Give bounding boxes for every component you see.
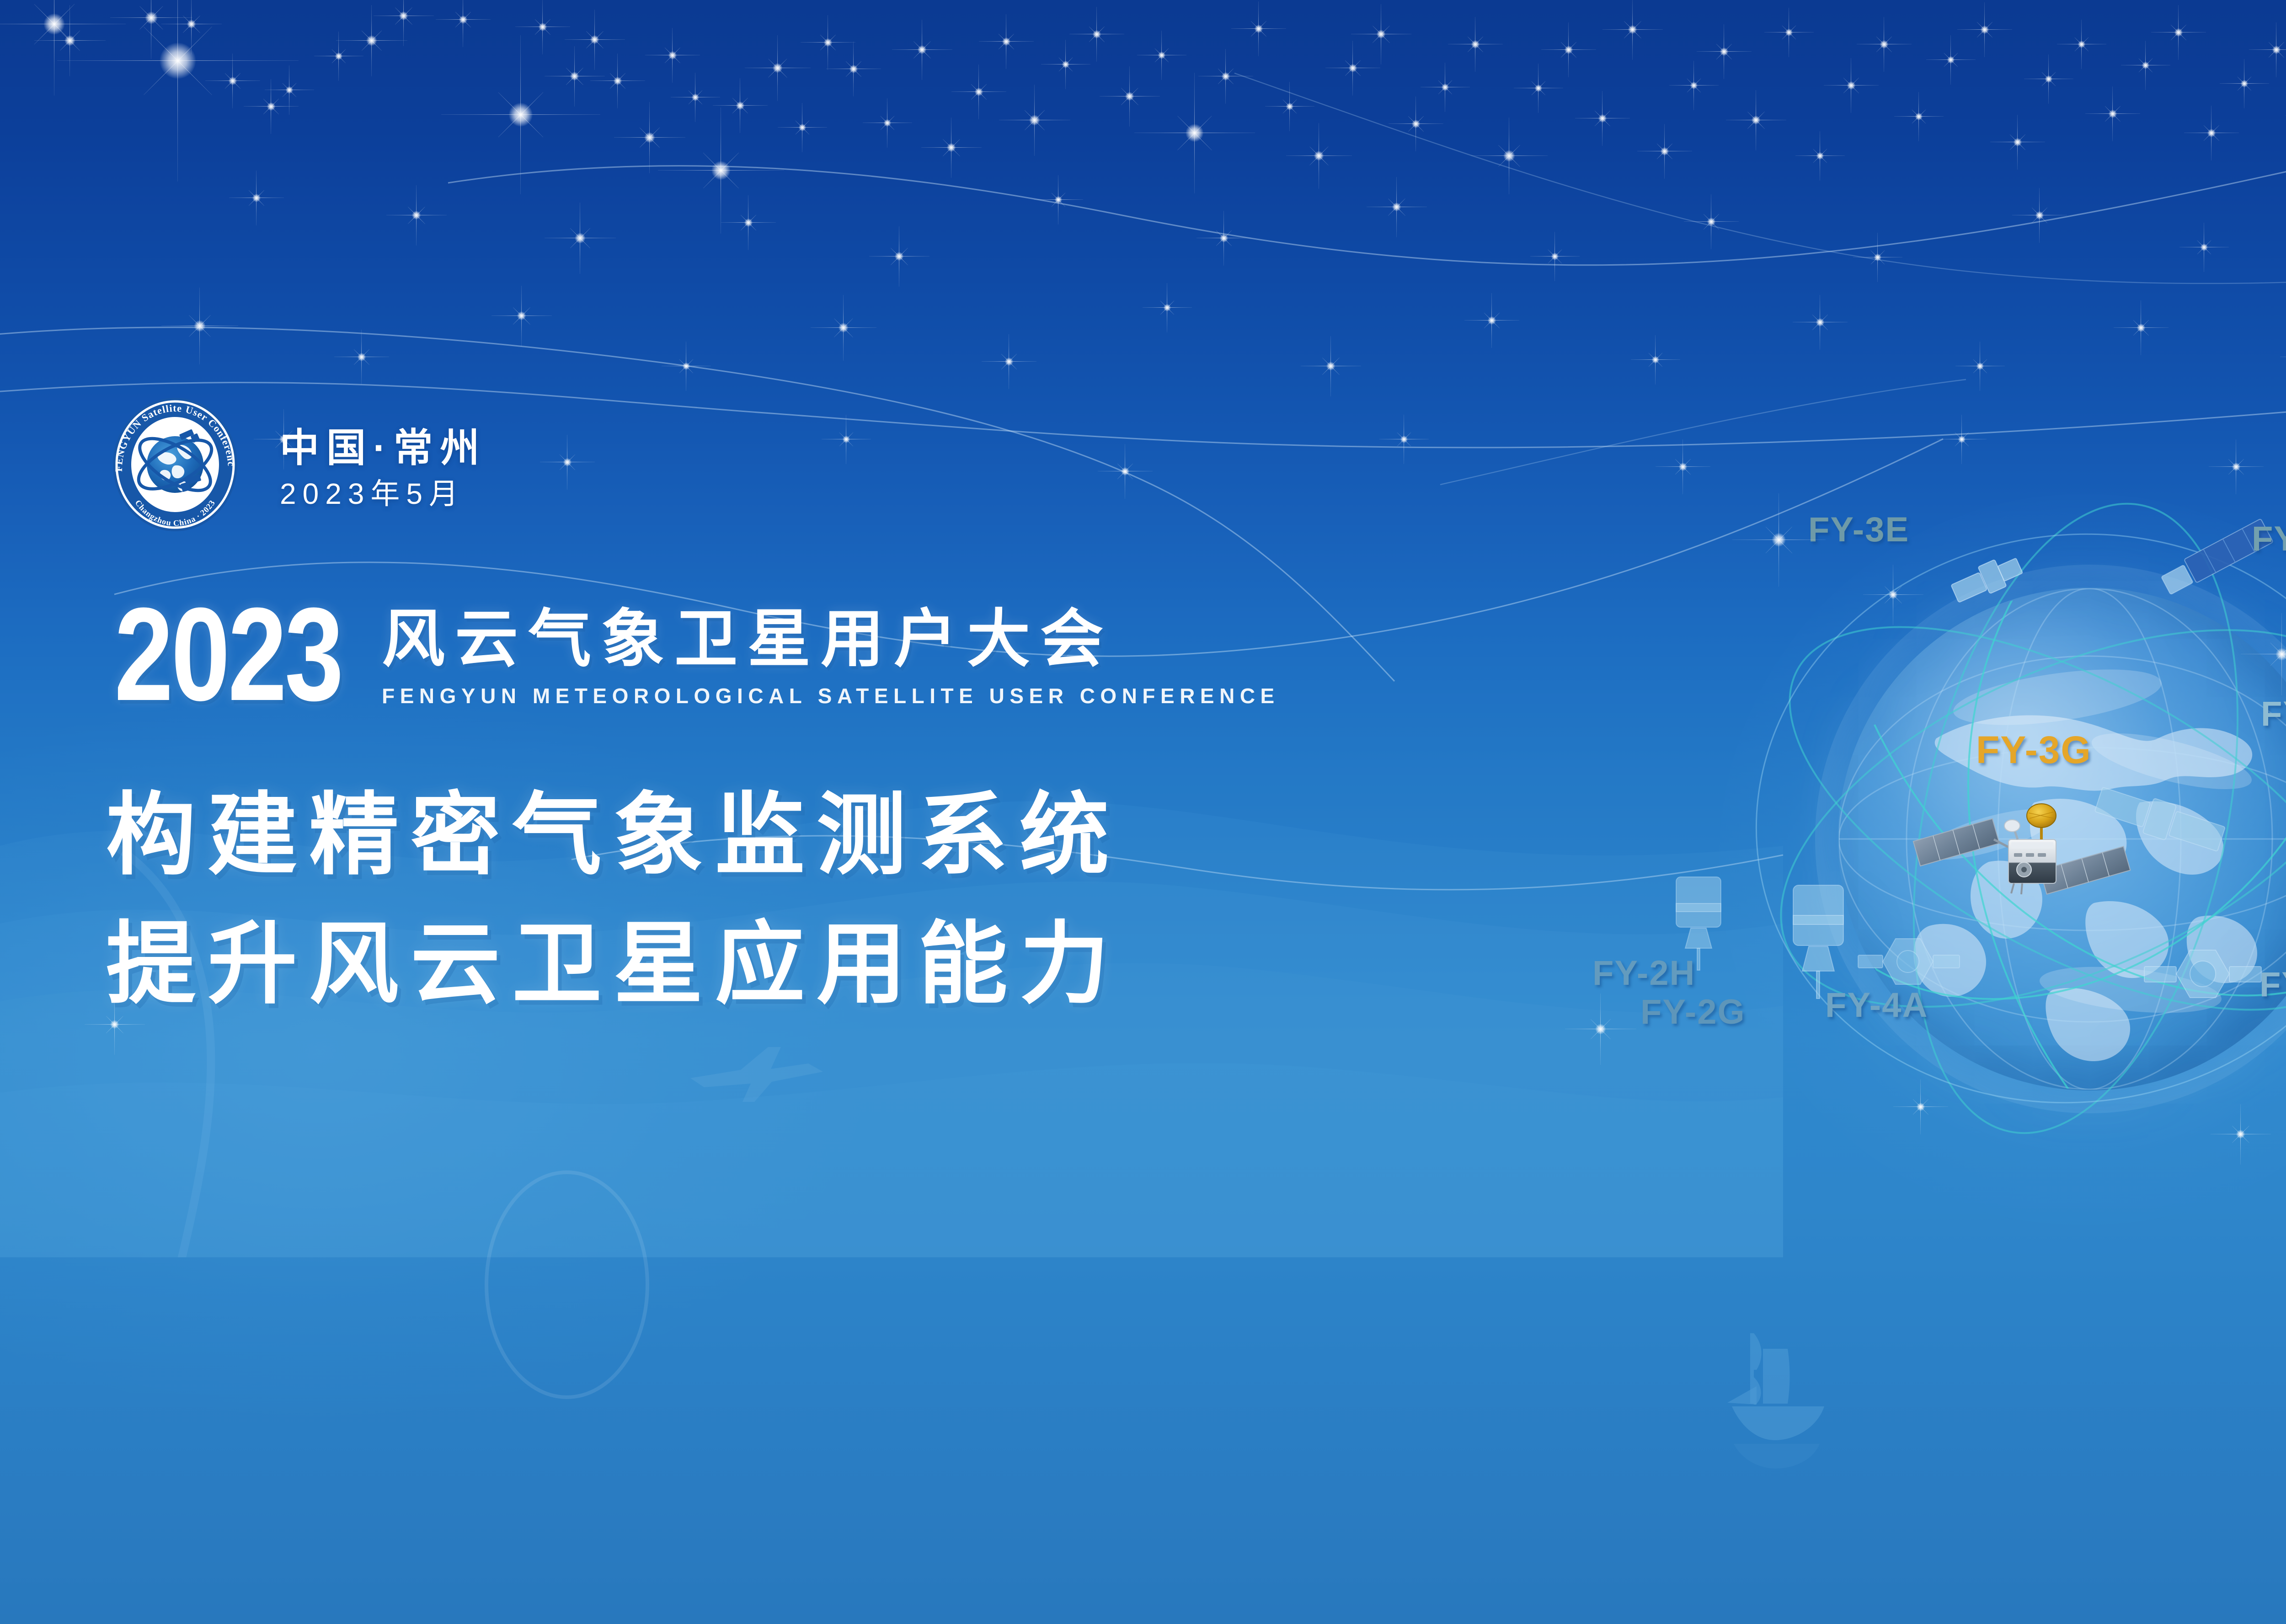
title-chinese: 风云气象卫星用户大会: [382, 607, 1280, 672]
satellite-icon-fy4b: [2135, 924, 2268, 1033]
slogan-block: 构建精密气象监测系统 提升风云卫星应用能力: [106, 771, 1752, 1029]
title-year: 2023: [114, 603, 342, 706]
satellite-label-fy-2g: FY-2G: [1640, 992, 1746, 1032]
title-english: FENGYUN METEOROLOGICAL SATELLITE USER CO…: [382, 684, 1280, 708]
decorative-ring: [485, 1170, 649, 1399]
date-text: 2023年5月: [280, 479, 600, 509]
sailboat-silhouette: [1673, 1289, 1865, 1481]
airplane-silhouette: [686, 1042, 832, 1106]
satellite-label-fy-2h: FY-2H: [1592, 953, 1695, 993]
slogan-line-1: 构建精密气象监测系统: [106, 771, 1752, 900]
location-date-block: 中国·常州 2023年5月: [280, 427, 600, 509]
main-title-block: 2023 风云气象卫星用户大会 FENGYUN METEOROLOGICAL S…: [114, 603, 1760, 708]
satellite-label-fy-3c: FY-3C: [2252, 519, 2286, 559]
fy-3g-satellite: [1904, 764, 2142, 928]
conference-logo: FENGYUN Satellite User Conference Changz…: [107, 396, 244, 533]
city-text: 中国·常州: [280, 427, 600, 469]
conference-poster: FENGYUN Satellite User Conference Changz…: [0, 0, 2286, 1624]
satellite-label-fy-4b: FY-4B: [2259, 965, 2286, 1004]
satellite-label-fy-3d: FY-3D: [2261, 694, 2286, 734]
satellite-icon-fy3e: [1934, 528, 2039, 633]
slogan-line-2: 提升风云卫星应用能力: [106, 900, 1752, 1029]
satellite-label-fy-4a: FY-4A: [1825, 985, 1928, 1025]
satellite-label-fy-3e: FY-3E: [1808, 510, 1909, 550]
satellite-label-fy-3g: FY-3G: [1976, 728, 2092, 772]
